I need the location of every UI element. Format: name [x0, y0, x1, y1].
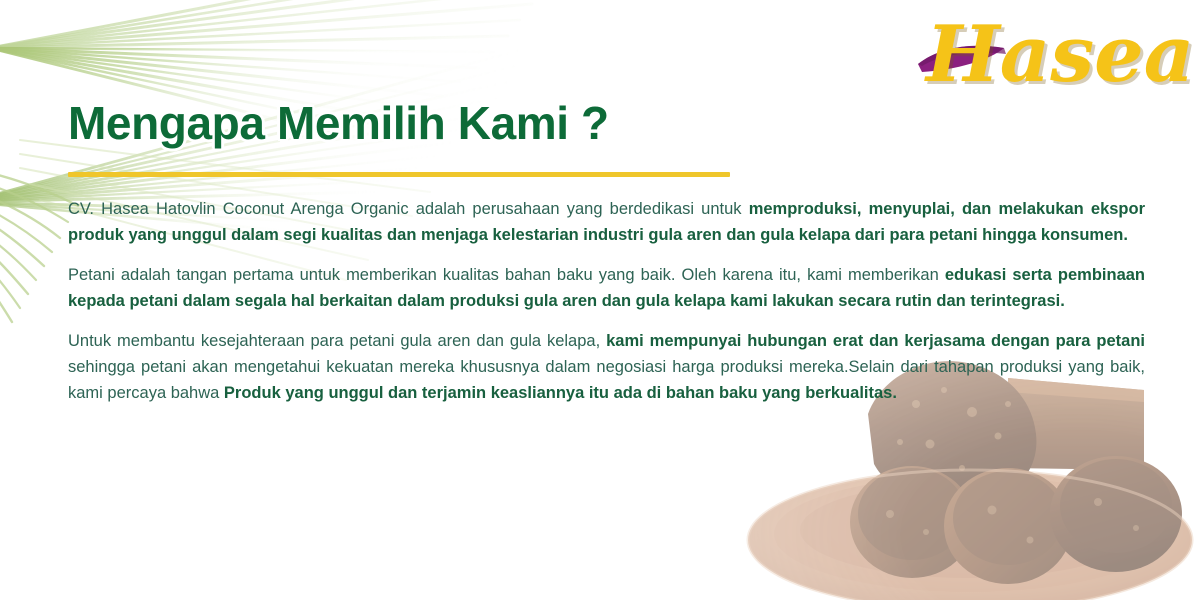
- paragraph-3: Untuk membantu kesejahteraan para petani…: [68, 328, 1145, 406]
- paragraph-2: Petani adalah tangan pertama untuk membe…: [68, 262, 1145, 314]
- body-copy: CV. Hasea Hatovlin Coconut Arenga Organi…: [68, 196, 1145, 406]
- logo-text: Hasea: [924, 9, 1194, 100]
- paragraph-1: CV. Hasea Hatovlin Coconut Arenga Organi…: [68, 196, 1145, 248]
- hasea-logo[interactable]: Hasea Hasea: [912, 8, 1182, 104]
- poster-canvas: Hasea Hasea Mengapa Memilih Kami ? CV. H…: [0, 0, 1200, 600]
- page-title: Mengapa Memilih Kami ?: [68, 96, 609, 150]
- title-underline-rule: [68, 172, 730, 177]
